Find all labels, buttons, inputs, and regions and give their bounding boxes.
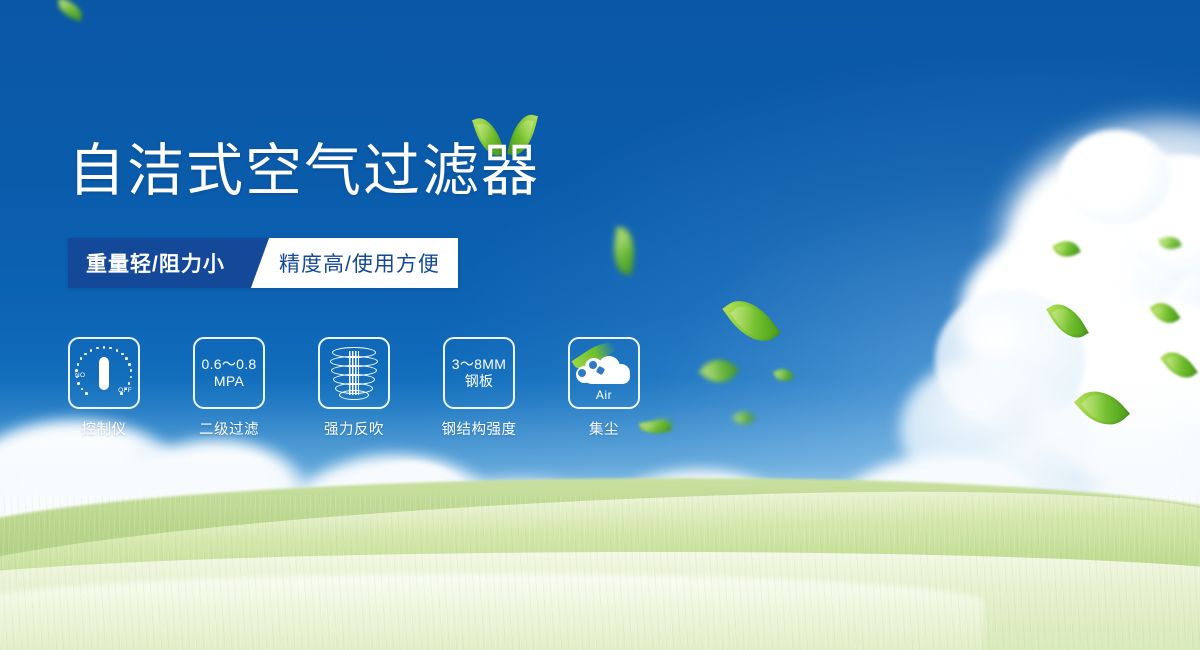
feature-label: 控制仪	[82, 418, 127, 439]
grass-path	[0, 574, 984, 650]
feature-item-steel-strength[interactable]: 3～8MM 钢板 钢结构强度	[443, 337, 515, 439]
air-filter-product-banner: 自洁式空气过滤器 重量轻/阻力小 精度高/使用方便	[0, 0, 1200, 650]
feature-list: NO OFF 控制仪 0.6～0.8 MPA 二级过滤	[68, 337, 640, 439]
gauge-needle	[99, 357, 109, 390]
feature-label: 钢结构强度	[442, 418, 517, 439]
feature-icon-box: Air	[568, 337, 640, 409]
subtitle-left-tag: 重量轻/阻力小	[68, 238, 247, 288]
feature-icon-box: 0.6～0.8 MPA	[193, 337, 265, 409]
gauge-off-label: OFF	[118, 387, 132, 394]
feature-label: 强力反吹	[324, 418, 384, 439]
gauge-dial-icon: NO OFF	[76, 345, 132, 401]
page-title: 自洁式空气过滤器	[68, 143, 540, 200]
steel-value-line1: 3～8MM	[452, 356, 506, 373]
filter-cartridge-icon	[330, 347, 378, 399]
pressure-value-line1: 0.6～0.8	[201, 356, 256, 373]
gauge-on-label: NO	[75, 372, 85, 379]
feature-icon-box	[318, 337, 390, 409]
subtitle-bar: 重量轻/阻力小 精度高/使用方便	[68, 238, 458, 288]
steel-value-line2: 钢板	[465, 373, 494, 390]
feature-item-reverse-blow[interactable]: 强力反吹	[318, 337, 390, 439]
feature-item-control-gauge[interactable]: NO OFF 控制仪	[68, 337, 140, 439]
feature-item-two-stage-filter[interactable]: 0.6～0.8 MPA 二级过滤	[193, 337, 265, 439]
feature-label: 集尘	[589, 418, 619, 439]
feature-icon-box: NO OFF	[68, 337, 140, 409]
feature-item-dust-collection[interactable]: Air 集尘	[568, 337, 640, 439]
air-cloud-icon	[576, 354, 632, 388]
feature-icon-box: 3～8MM 钢板	[443, 337, 515, 409]
air-label: Air	[570, 388, 638, 402]
feature-label: 二级过滤	[199, 418, 259, 439]
pressure-value-line2: MPA	[214, 373, 244, 390]
subtitle-right-tag: 精度高/使用方便	[247, 238, 458, 288]
